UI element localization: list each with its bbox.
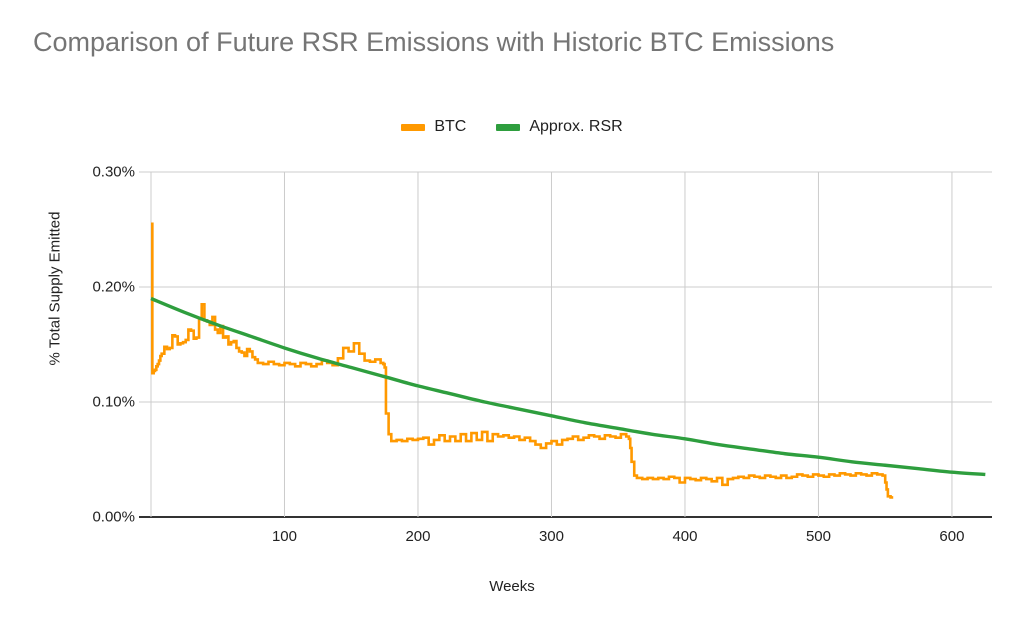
x-axis-label: Weeks bbox=[0, 578, 1024, 595]
x-tick-label: 300 bbox=[539, 528, 564, 545]
x-tick-label: 600 bbox=[939, 528, 964, 545]
x-tick-label: 400 bbox=[672, 528, 697, 545]
x-tick-label: 100 bbox=[272, 528, 297, 545]
series-line-approx-rsr bbox=[151, 299, 985, 475]
x-tick-label: 200 bbox=[405, 528, 430, 545]
y-tick-label: 0.00% bbox=[40, 509, 135, 526]
chart-container: Comparison of Future RSR Emissions with … bbox=[0, 0, 1024, 633]
y-axis-label: % Total Supply Emitted bbox=[47, 179, 64, 399]
x-tick-label: 500 bbox=[806, 528, 831, 545]
series-line-btc bbox=[151, 224, 893, 498]
plot-area bbox=[0, 0, 1024, 633]
